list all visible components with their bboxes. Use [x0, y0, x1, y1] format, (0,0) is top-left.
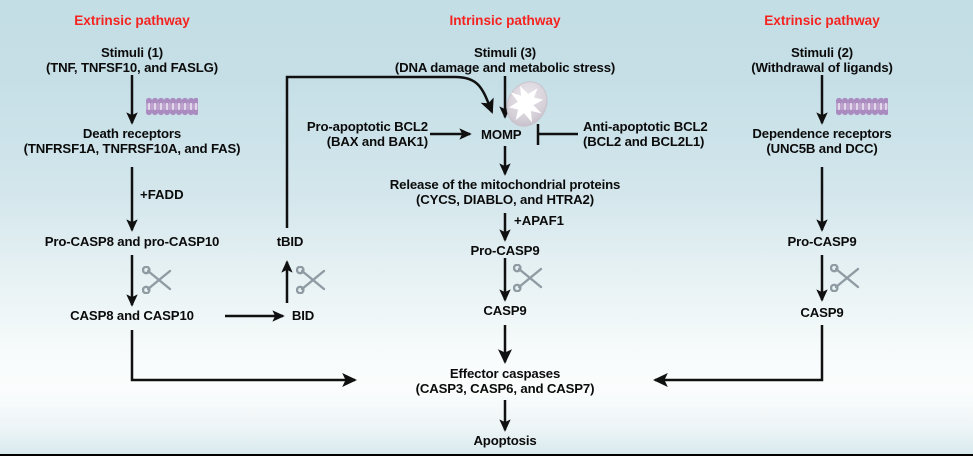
left-stimuli-title: Stimuli (1): [101, 45, 163, 60]
modifier-fadd: +FADD: [140, 187, 184, 202]
pro-apoptotic-bcl2-detail: (BAX and BAK1): [298, 134, 428, 149]
left-stimuli-detail: (TNF, TNFSF10, and FASLG): [46, 60, 218, 75]
apoptosis-pathway-figure: Extrinsic pathway Intrinsic pathway Extr…: [0, 0, 973, 456]
scissors-icon-casp9-right: [830, 264, 864, 292]
middle-stimuli-detail: (DNA damage and metabolic stress): [395, 60, 615, 75]
header-extrinsic-right: Extrinsic pathway: [764, 13, 880, 28]
lipid-bilayer-icon-left: [146, 96, 198, 118]
death-receptors-title: Death receptors: [83, 126, 181, 141]
anti-apoptotic-bcl2-detail: (BCL2 and BCL2L1): [583, 134, 704, 149]
lipid-bilayer-icon-right: [836, 96, 888, 118]
death-receptors-detail: (TNFRSF1A, TNFRSF10A, and FAS): [24, 141, 241, 156]
middle-stimuli-title: Stimuli (3): [474, 45, 536, 60]
right-stimuli-title: Stimuli (2): [791, 45, 853, 60]
scissors-icon-bid: [296, 266, 330, 294]
pro-casp8-casp10-label: Pro-CASP8 and pro-CASP10: [45, 234, 219, 249]
scissors-icon-casp9-middle: [513, 264, 547, 292]
right-casp9-label: CASP9: [800, 305, 843, 320]
header-extrinsic-left: Extrinsic pathway: [74, 13, 190, 28]
scissors-icon-casp8: [142, 266, 176, 294]
arrow-right-casp9-to-effector: [655, 325, 822, 380]
dependence-receptors-detail: (UNC5B and DCC): [766, 141, 877, 156]
modifier-apaf1: +APAF1: [514, 213, 564, 228]
casp8-casp10-label: CASP8 and CASP10: [70, 308, 194, 323]
effector-caspases-title: Effector caspases: [450, 366, 560, 381]
momp-label: MOMP: [481, 127, 521, 142]
effector-caspases-detail: (CASP3, CASP6, and CASP7): [416, 381, 595, 396]
pro-apoptotic-bcl2-title: Pro-apoptotic BCL2: [298, 119, 428, 134]
tbid-label: tBID: [277, 234, 304, 249]
right-stimuli-detail: (Withdrawal of ligands): [751, 60, 893, 75]
anti-apoptotic-bcl2-title: Anti-apoptotic BCL2: [583, 119, 708, 134]
release-mitochondrial-proteins-title: Release of the mitochondrial proteins: [390, 177, 620, 192]
release-mitochondrial-proteins-detail: (CYCS, DIABLO, and HTRA2): [416, 192, 594, 207]
header-intrinsic: Intrinsic pathway: [449, 13, 560, 28]
mitochondrion-icon: [499, 75, 554, 133]
dependence-receptors-title: Dependence receptors: [752, 126, 891, 141]
bid-label: BID: [292, 308, 314, 323]
right-pro-casp9-label: Pro-CASP9: [788, 234, 857, 249]
middle-casp9-label: CASP9: [483, 303, 526, 318]
arrow-casp8-to-effector: [132, 330, 355, 380]
apoptosis-label: Apoptosis: [473, 433, 536, 448]
middle-pro-casp9-label: Pro-CASP9: [471, 243, 540, 258]
